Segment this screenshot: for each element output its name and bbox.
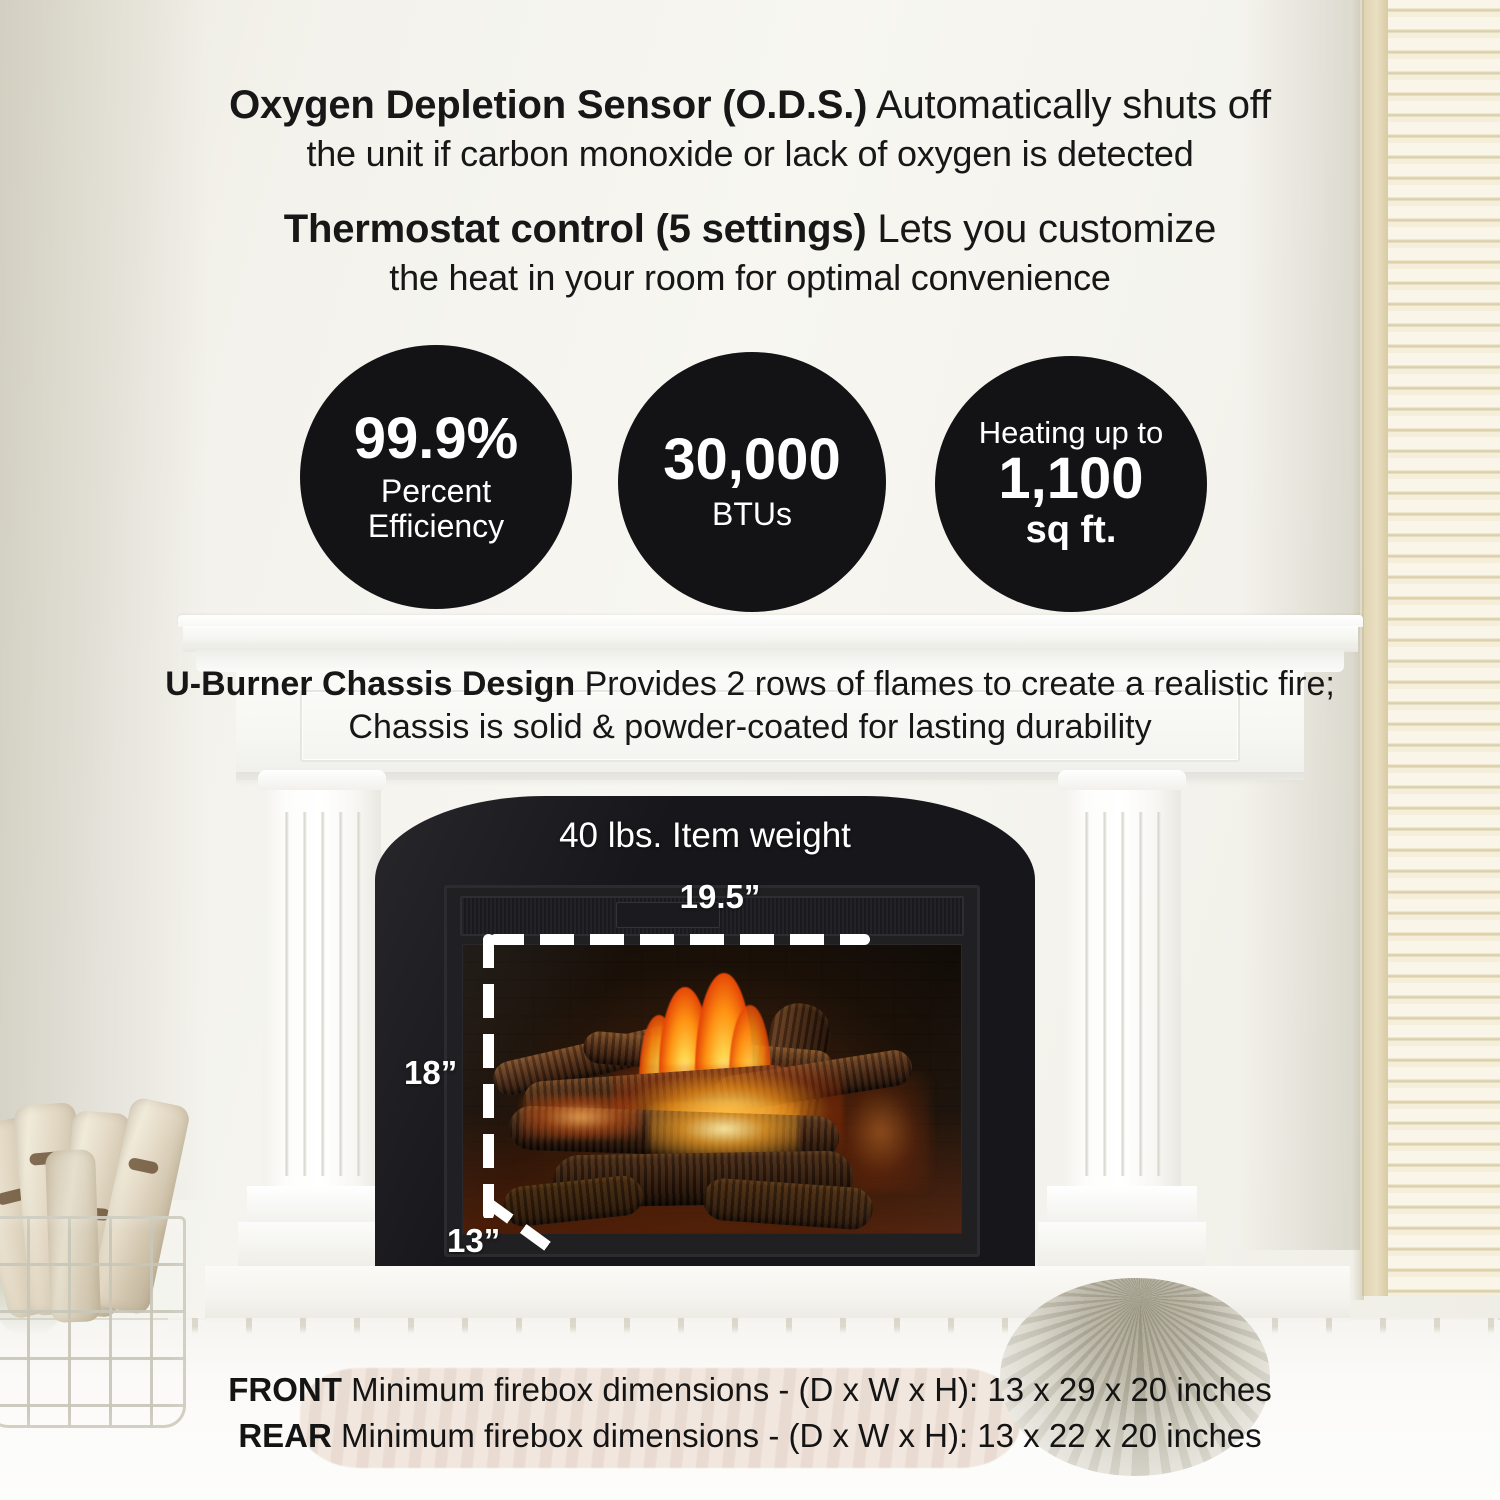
badge-efficiency-caption-2: Efficiency — [368, 509, 504, 544]
annotation-width: 19.5” — [0, 878, 1440, 916]
burner-title: U-Burner Chassis Design — [165, 665, 575, 703]
firebox-glass-view — [462, 944, 962, 1234]
feature-1-line-1: Oxygen Depletion Sensor (O.D.S.) Automat… — [0, 82, 1500, 128]
feature-2-title: Thermostat control (5 settings) — [284, 207, 867, 251]
infographic-canvas: Oxygen Depletion Sensor (O.D.S.) Automat… — [0, 0, 1500, 1500]
pilaster-capital-left — [258, 770, 386, 792]
badge-btus-caption: BTUs — [712, 497, 792, 532]
feature-1-line-2: the unit if carbon monoxide or lack of o… — [0, 133, 1500, 175]
annotation-height: 18” — [404, 1054, 457, 1092]
annotation-item-weight: 40 lbs. Item weight — [0, 816, 1410, 856]
column-flutes-left — [277, 812, 367, 1176]
burner-line-1: U-Burner Chassis Design Provides 2 rows … — [0, 665, 1500, 704]
shutter-stile — [1362, 0, 1388, 1296]
firebox-dimension-front: FRONT Minimum firebox dimensions - (D x … — [0, 1371, 1500, 1409]
badge-efficiency-value: 99.9% — [354, 410, 518, 468]
plinth-base-right — [1038, 1222, 1206, 1266]
glass-reflection — [463, 945, 961, 1233]
louvered-shutter-panel — [1362, 0, 1500, 1296]
feature-1-desc-start: Automatically shuts off — [867, 83, 1271, 127]
badge-coverage: Heating up to 1,100 sq ft. — [935, 356, 1207, 612]
badge-coverage-top: Heating up to — [979, 417, 1163, 448]
front-label: FRONT — [228, 1371, 342, 1408]
badge-efficiency-caption-1: Percent — [381, 474, 491, 509]
plinth-right — [1047, 1186, 1197, 1224]
wall-shadow-left — [0, 0, 210, 1200]
front-text: Minimum firebox dimensions - (D x W x H)… — [342, 1371, 1272, 1408]
column-flutes-right — [1077, 812, 1167, 1176]
burner-line-2: Chassis is solid & powder-coated for las… — [0, 708, 1500, 747]
feature-2-line-2: the heat in your room for optimal conven… — [0, 257, 1500, 299]
measurement-line-vertical — [483, 934, 494, 1220]
badge-coverage-value: 1,100 — [998, 450, 1143, 508]
mantel-shelf — [183, 626, 1358, 652]
badge-btus: 30,000 BTUs — [618, 352, 886, 612]
badge-coverage-unit: sq ft. — [1026, 510, 1117, 552]
feature-1-title: Oxygen Depletion Sensor (O.D.S.) — [229, 83, 867, 127]
feature-2-line-1: Thermostat control (5 settings) Lets you… — [0, 206, 1500, 252]
badge-btus-value: 30,000 — [663, 431, 840, 489]
rear-text: Minimum firebox dimensions - (D x W x H)… — [332, 1417, 1262, 1454]
badge-efficiency: 99.9% Percent Efficiency — [300, 345, 572, 609]
pilaster-capital-right — [1058, 770, 1186, 792]
rear-label: REAR — [238, 1417, 332, 1454]
annotation-depth: 13” — [447, 1222, 500, 1260]
log-basket — [0, 1098, 197, 1328]
measurement-line-horizontal — [490, 934, 870, 945]
hearth-front-edge — [168, 1318, 1498, 1334]
burner-desc-start: Provides 2 rows of flames to create a re… — [575, 665, 1335, 703]
firebox-dimension-rear: REAR Minimum firebox dimensions - (D x W… — [0, 1417, 1500, 1455]
shutter-slats — [1388, 0, 1500, 1296]
feature-2-desc-start: Lets you customize — [867, 207, 1217, 251]
